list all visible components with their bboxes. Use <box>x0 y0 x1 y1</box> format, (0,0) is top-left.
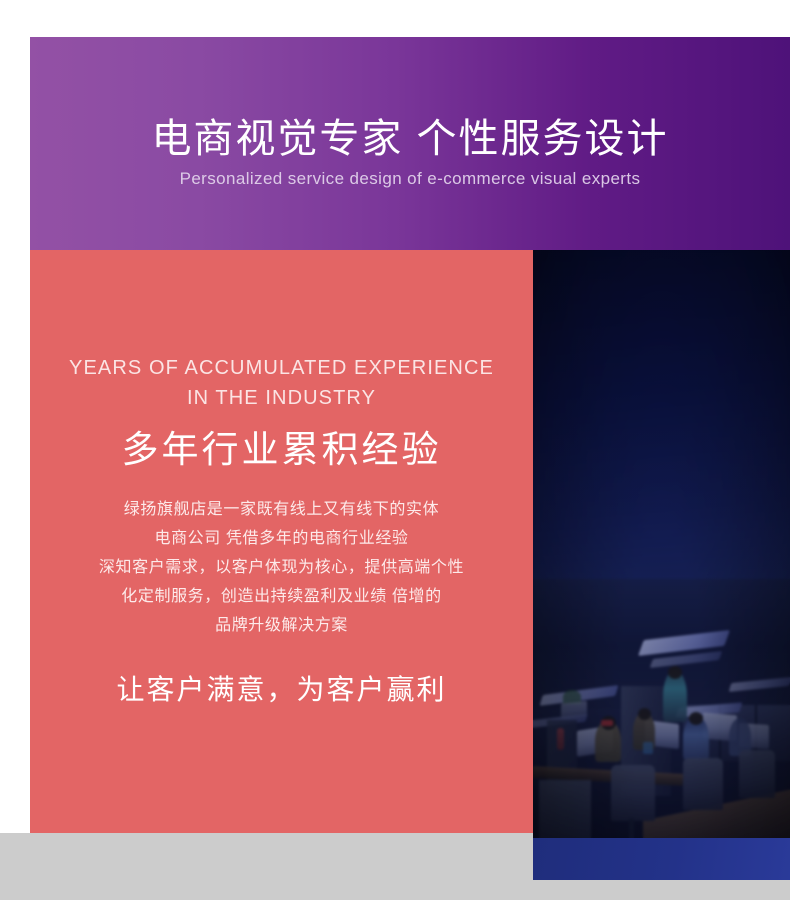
feature-body-line-4: 化定制服务，创造出持续盈利及业绩 倍增的 <box>44 582 519 611</box>
photo-vignette-overlay <box>533 250 790 838</box>
feature-slogan-chinese: 让客户满意，为客户赢利 <box>44 670 519 710</box>
feature-body-copy: 绿扬旗舰店是一家既有线上又有线下的实体 电商公司 凭借多年的电商行业经验 深知客… <box>44 495 519 640</box>
feature-eyebrow-line-1: YEARS OF ACCUMULATED EXPERIENCE <box>44 353 519 383</box>
feature-body-line-2: 电商公司 凭借多年的电商行业经验 <box>44 524 519 553</box>
feature-body-line-5: 品牌升级解决方案 <box>44 611 519 640</box>
feature-headline-chinese: 多年行业累积经验 <box>44 425 519 475</box>
feature-panel-content: YEARS OF ACCUMULATED EXPERIENCE IN THE I… <box>30 250 533 710</box>
feature-body-line-1: 绿扬旗舰店是一家既有线上又有线下的实体 <box>44 495 519 524</box>
header-banner: 电商视觉专家 个性服务设计 Personalized service desig… <box>30 37 790 250</box>
feature-eyebrow-english: YEARS OF ACCUMULATED EXPERIENCE IN THE I… <box>44 353 519 413</box>
header-title-chinese: 电商视觉专家 个性服务设计 <box>30 115 790 163</box>
feature-eyebrow-line-2: IN THE INDUSTRY <box>44 383 519 413</box>
header-subtitle-english: Personalized service design of e-commerc… <box>30 166 790 192</box>
bottom-accent-bar <box>533 838 790 880</box>
header-text-group: 电商视觉专家 个性服务设计 Personalized service desig… <box>30 115 790 192</box>
feature-panel: YEARS OF ACCUMULATED EXPERIENCE IN THE I… <box>30 250 533 833</box>
office-interior-photo <box>533 250 790 838</box>
feature-body-line-3: 深知客户需求，以客户体现为核心，提供高端个性 <box>44 553 519 582</box>
